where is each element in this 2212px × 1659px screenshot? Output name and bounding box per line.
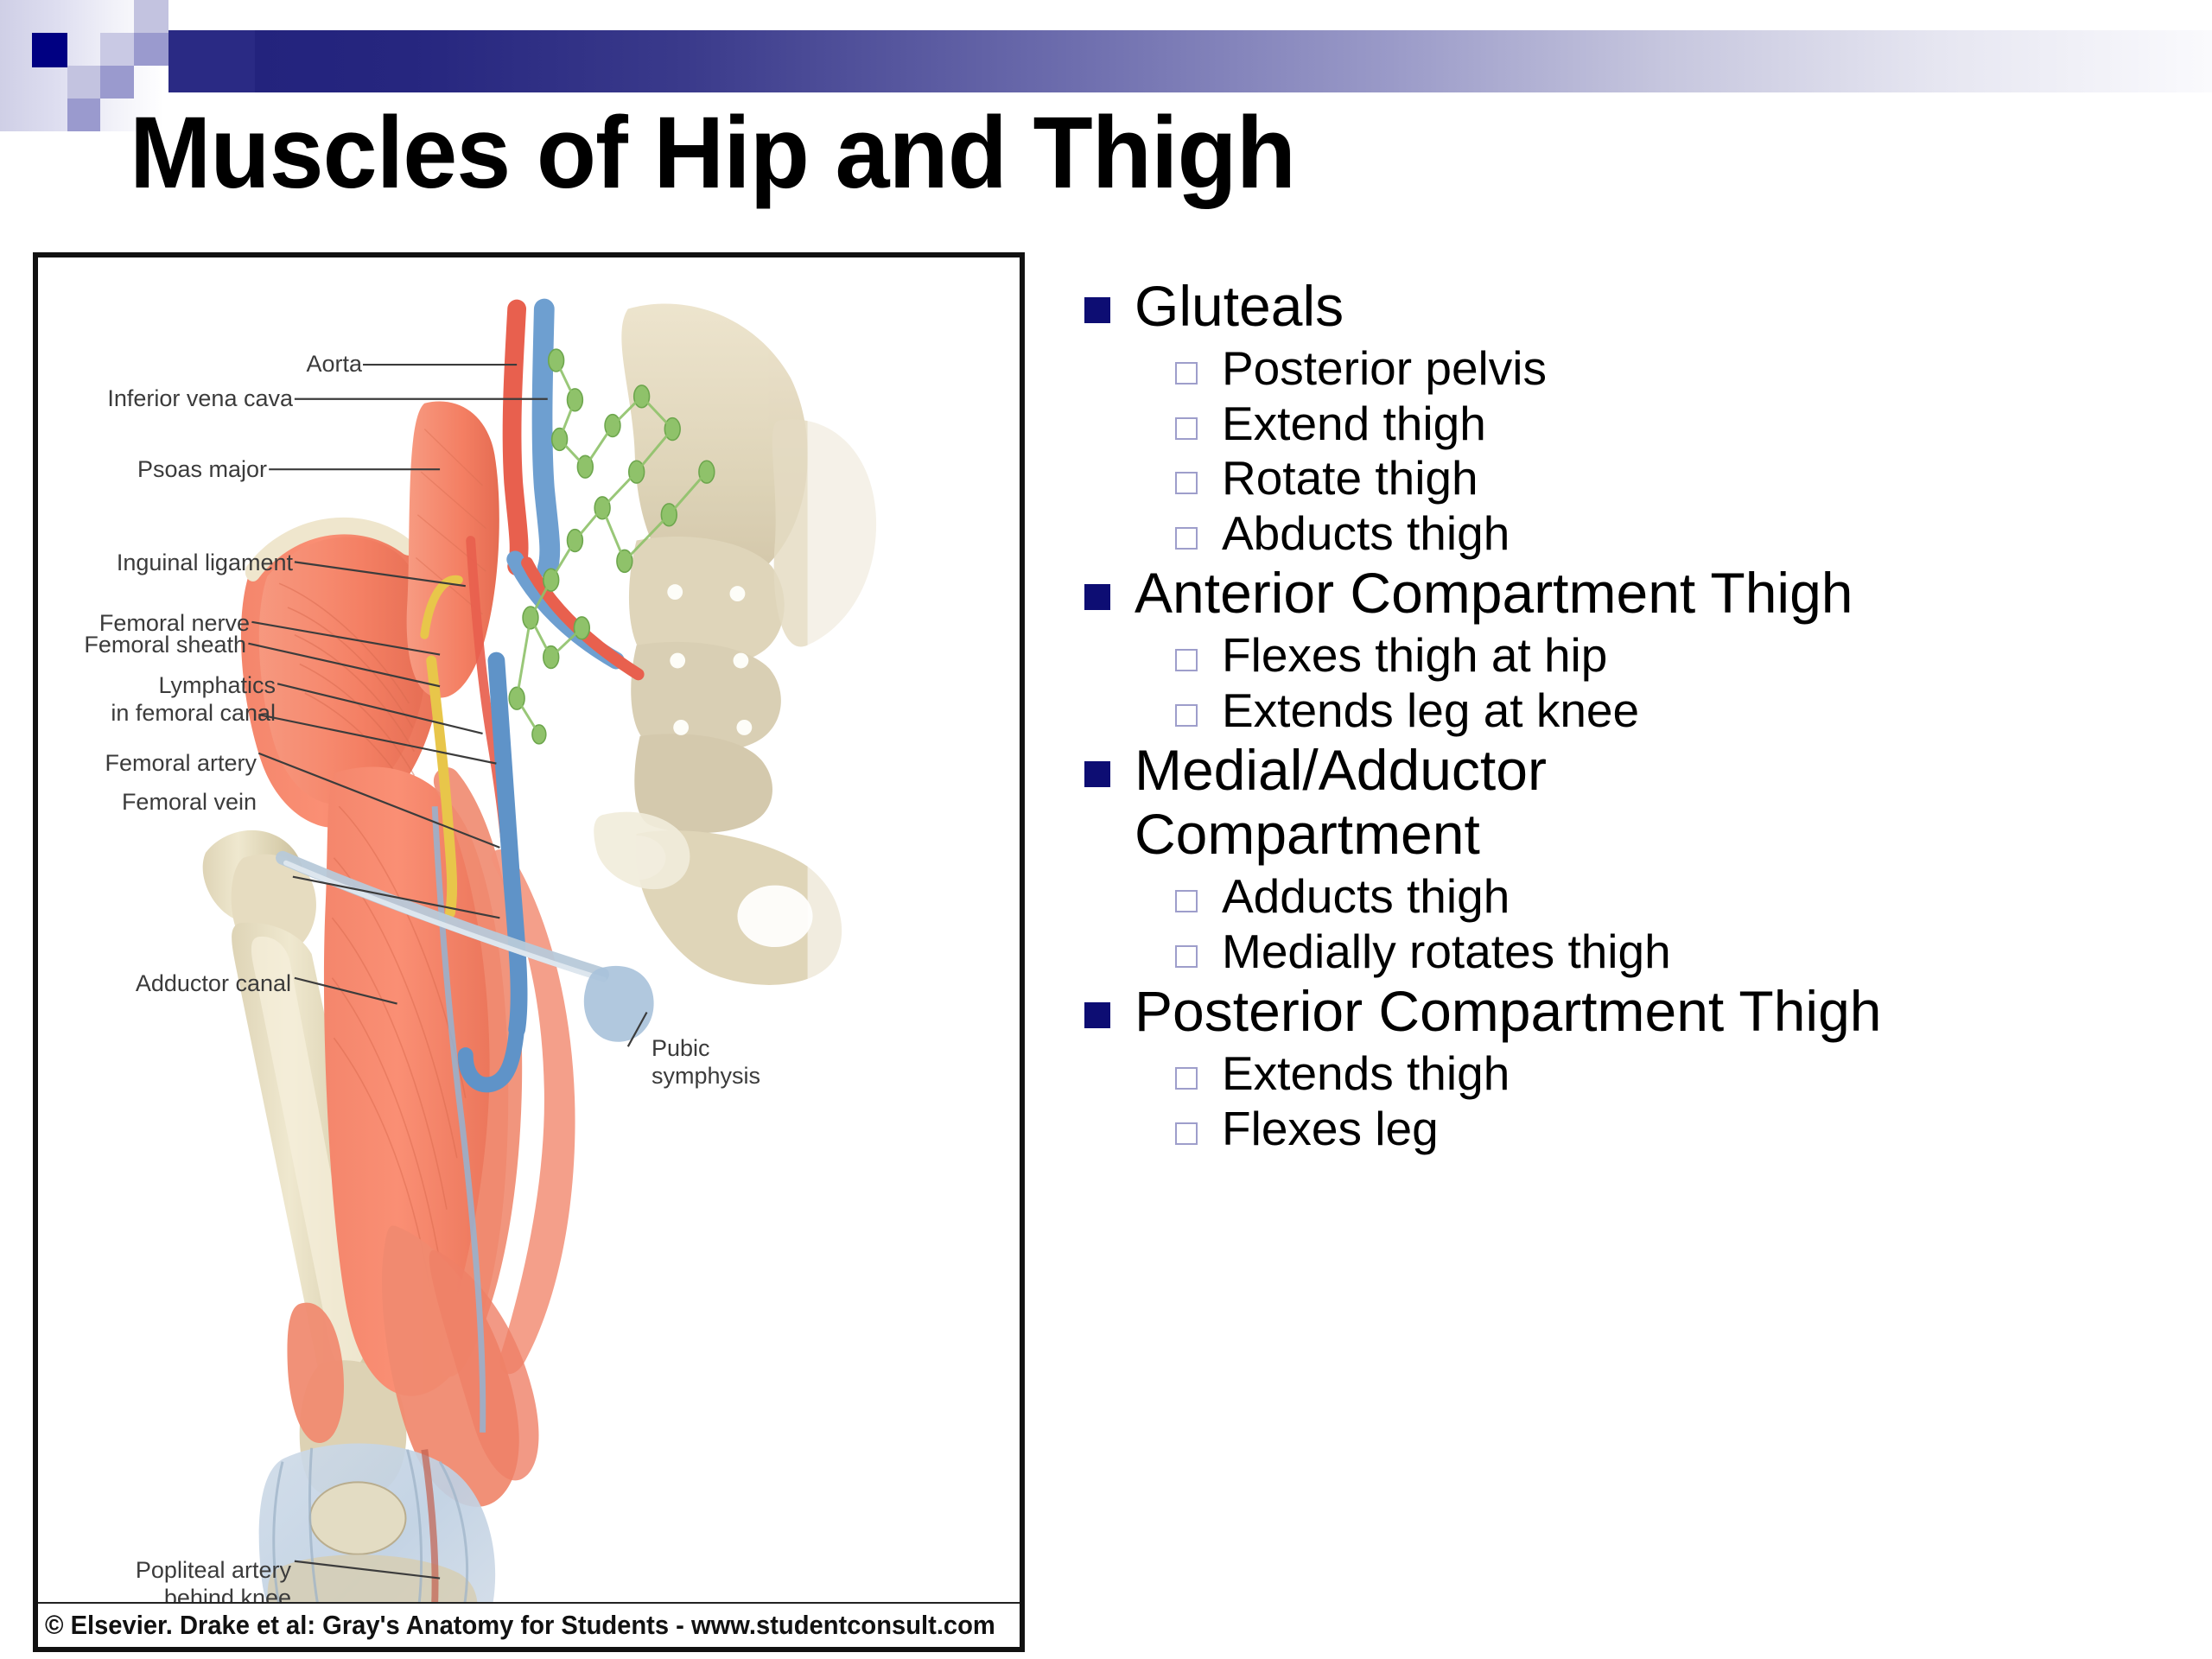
sub-bullet-label: Medially rotates thigh bbox=[1222, 925, 1671, 979]
bullet-marker-hollow-square bbox=[1175, 704, 1198, 727]
bullet-marker-hollow-square bbox=[1175, 649, 1198, 671]
bullet-label: Medial/Adductor Compartment bbox=[1135, 739, 1739, 867]
bullet-item-medial-adductor-compartment: Medial/Adductor Compartment bbox=[1084, 739, 2199, 867]
figure-label-femoral-vein: Femoral vein bbox=[122, 789, 257, 817]
sub-bullet-label: Flexes thigh at hip bbox=[1222, 629, 1607, 683]
sub-bullet-posterior-pelvis: Posterior pelvis bbox=[1175, 342, 2199, 396]
sub-bullet-label: Adducts thigh bbox=[1222, 870, 1510, 924]
figure-label-psoas-major: Psoas major bbox=[137, 456, 267, 484]
figure-label-inferior-vena-cava: Inferior vena cava bbox=[107, 385, 293, 413]
bullet-item-anterior-compartment-thigh: Anterior Compartment Thigh bbox=[1084, 562, 2199, 626]
decor-square-periwinkle-a bbox=[100, 66, 134, 99]
bullet-marker-hollow-square bbox=[1175, 472, 1198, 494]
figure-label-lymphatics-line2: in femoral canal bbox=[111, 700, 276, 728]
figure-label-femoral-sheath: Femoral sheath bbox=[84, 632, 246, 659]
bullet-marker-filled-square bbox=[1084, 297, 1110, 323]
decor-square-lavender-tall-top bbox=[134, 0, 168, 33]
sub-bullet-medially-rotates-thigh: Medially rotates thigh bbox=[1175, 925, 2199, 979]
figure-label-lymphatics-line1: Lymphatics bbox=[158, 672, 276, 700]
content-bullet-list: Gluteals Posterior pelvis Extend thigh R… bbox=[1084, 275, 2199, 1657]
decor-square-periwinkle-b bbox=[67, 99, 100, 131]
figure-label-inguinal-ligament: Inguinal ligament bbox=[117, 550, 293, 577]
bullet-marker-hollow-square bbox=[1175, 362, 1198, 385]
sub-bullet-adducts-thigh: Adducts thigh bbox=[1175, 870, 2199, 924]
bullet-label: Anterior Compartment Thigh bbox=[1135, 562, 1853, 626]
figure-label-popliteal-artery-line1: Popliteal artery bbox=[136, 1557, 291, 1585]
sub-bullet-label: Extend thigh bbox=[1222, 397, 1486, 451]
sub-bullet-extend-thigh: Extend thigh bbox=[1175, 397, 2199, 451]
decor-square-navy-large-bottom bbox=[168, 65, 255, 92]
bullet-marker-filled-square bbox=[1084, 584, 1110, 610]
sub-bullet-extends-thigh: Extends thigh bbox=[1175, 1047, 2199, 1101]
sub-bullet-label: Abducts thigh bbox=[1222, 507, 1510, 561]
bullet-marker-hollow-square bbox=[1175, 417, 1198, 440]
sub-bullet-label: Extends thigh bbox=[1222, 1047, 1510, 1101]
decor-square-navy-large-top bbox=[168, 30, 255, 65]
sub-bullet-flexes-thigh-at-hip: Flexes thigh at hip bbox=[1175, 629, 2199, 683]
bullet-marker-hollow-square bbox=[1175, 890, 1198, 912]
figure-label-aorta: Aorta bbox=[306, 351, 362, 378]
bullet-label: Posterior Compartment Thigh bbox=[1135, 980, 1881, 1044]
anatomy-figure-panel: Aorta Inferior vena cava Psoas major Ing… bbox=[33, 252, 1025, 1652]
sub-bullet-label: Extends leg at knee bbox=[1222, 684, 1639, 738]
figure-label-pubic-symphysis-line1: Pubic bbox=[652, 1035, 710, 1063]
figure-label-femoral-artery: Femoral artery bbox=[105, 750, 257, 778]
decor-square-darknavy bbox=[32, 33, 67, 67]
page-title: Muscles of Hip and Thigh bbox=[130, 102, 2037, 204]
bullet-marker-filled-square bbox=[1084, 761, 1110, 787]
decor-square-lavender-a bbox=[100, 33, 134, 66]
figure-credit-bar: © Elsevier. Drake et al: Gray's Anatomy … bbox=[38, 1602, 1020, 1647]
decor-square-periwinkle-tall bbox=[134, 33, 168, 66]
sub-bullet-label: Rotate thigh bbox=[1222, 452, 1478, 505]
bullet-marker-hollow-square bbox=[1175, 1067, 1198, 1090]
bullet-label: Gluteals bbox=[1135, 275, 1344, 339]
bullet-item-posterior-compartment-thigh: Posterior Compartment Thigh bbox=[1084, 980, 2199, 1044]
sub-bullet-extends-leg-at-knee: Extends leg at knee bbox=[1175, 684, 2199, 738]
sub-bullet-rotate-thigh: Rotate thigh bbox=[1175, 452, 2199, 505]
figure-label-pubic-symphysis-line2: symphysis bbox=[652, 1063, 760, 1090]
figure-label-adductor-canal: Adductor canal bbox=[136, 970, 291, 998]
decor-gradient-bar bbox=[255, 30, 2212, 92]
sub-bullet-abducts-thigh: Abducts thigh bbox=[1175, 507, 2199, 561]
bullet-marker-filled-square bbox=[1084, 1002, 1110, 1028]
sub-bullet-label: Flexes leg bbox=[1222, 1103, 1439, 1156]
bullet-marker-hollow-square bbox=[1175, 945, 1198, 968]
figure-credit-text: © Elsevier. Drake et al: Gray's Anatomy … bbox=[45, 1610, 995, 1641]
bullet-item-gluteals: Gluteals bbox=[1084, 275, 2199, 339]
sub-bullet-label: Posterior pelvis bbox=[1222, 342, 1547, 396]
sub-bullet-flexes-leg: Flexes leg bbox=[1175, 1103, 2199, 1156]
bullet-marker-hollow-square bbox=[1175, 1122, 1198, 1145]
decor-square-lavender-b bbox=[67, 66, 100, 99]
bullet-marker-hollow-square bbox=[1175, 527, 1198, 550]
